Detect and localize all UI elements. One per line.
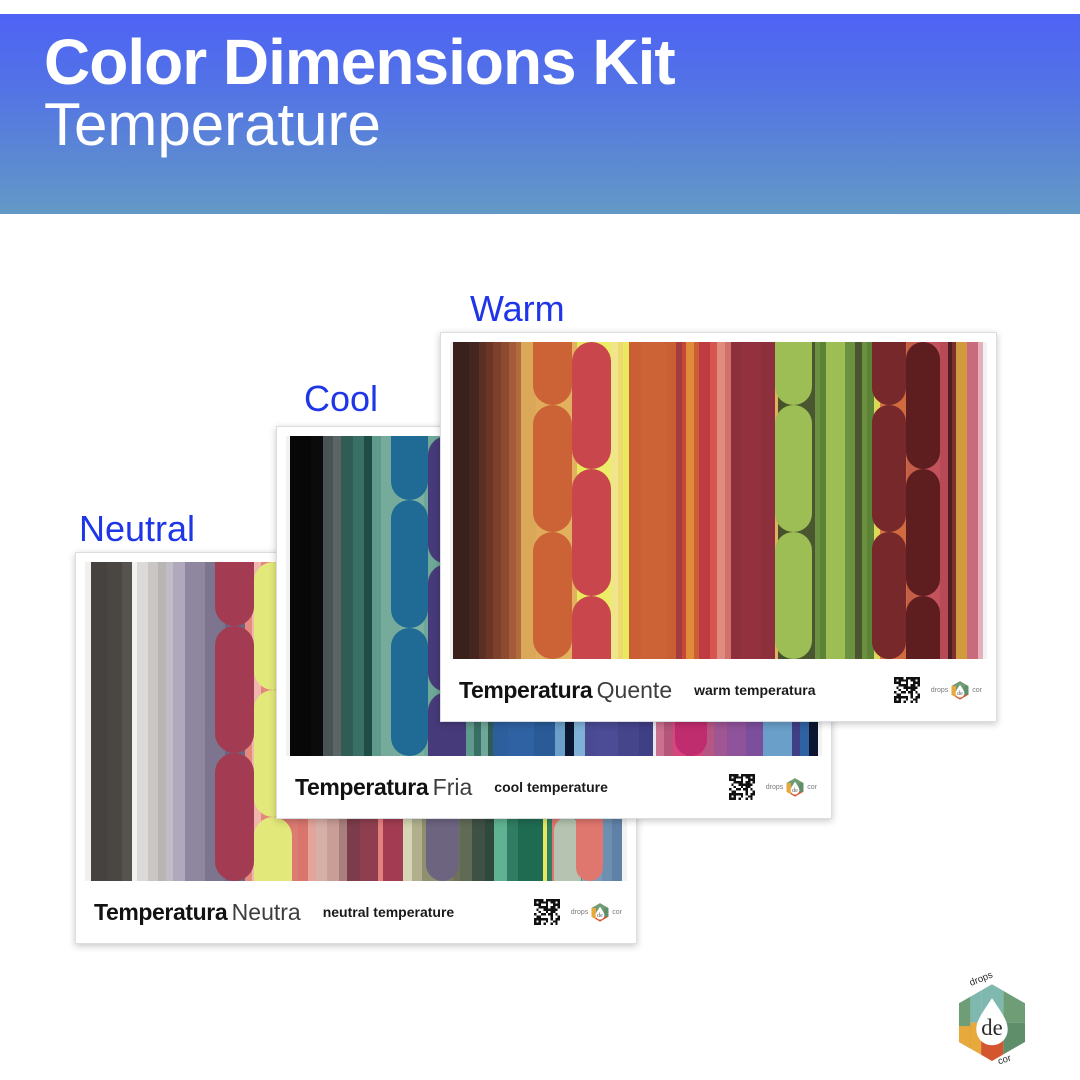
scallop-shape	[391, 628, 429, 692]
logo-bottom-text: cor	[612, 909, 622, 916]
card-label-warm: Warm	[470, 288, 565, 330]
scallop-shape	[533, 469, 572, 532]
drops-de-cor-logo[interactable]: de drops cor	[948, 972, 1036, 1068]
svg-text:de: de	[957, 691, 963, 697]
scallop-shape	[906, 532, 940, 595]
scallop-shape	[572, 405, 611, 468]
scallop-shape	[533, 532, 572, 595]
caption-subtitle: cool temperature	[494, 779, 608, 795]
scallop-column	[906, 342, 940, 659]
scallop-set	[450, 342, 987, 659]
scallop-shape	[906, 405, 940, 468]
page-subtitle: Temperature	[44, 93, 1080, 158]
qr-code-icon[interactable]	[534, 899, 560, 925]
drops-de-cor-logo: drops de cor	[571, 902, 622, 922]
logo-center-text: de	[981, 1015, 1002, 1040]
logo-top-text: drops	[571, 909, 589, 916]
page-header: Color Dimensions Kit Temperature	[0, 14, 1080, 214]
drops-de-cor-logo: drops de cor	[931, 680, 982, 700]
caption-subtitle: neutral temperature	[323, 904, 454, 920]
scallop-shape	[906, 469, 940, 532]
scallop-shape	[775, 596, 813, 659]
scallop-shape	[391, 436, 429, 500]
scallop-shape	[775, 342, 813, 405]
palette-card-warm[interactable]: Temperatura Quente warm temperatura drop…	[440, 332, 997, 722]
scallop-shape	[572, 596, 611, 659]
scallop-shape	[906, 342, 940, 405]
scallop-shape	[872, 342, 906, 405]
caption-subtitle: warm temperatura	[694, 682, 815, 698]
card-caption-neutral: Temperatura Neutra neutral temperature d…	[76, 881, 636, 943]
scallop-shape	[215, 753, 254, 817]
scallop-shape	[533, 596, 572, 659]
caption-meta: drops de cor	[534, 899, 622, 925]
caption-title-bold: Temperatura	[94, 899, 227, 925]
caption-meta: drops de cor	[729, 774, 817, 800]
caption-title-light: Quente	[597, 677, 672, 703]
svg-text:de: de	[792, 788, 798, 794]
scallop-shape	[426, 817, 459, 881]
logo-hexagon: de	[785, 777, 805, 797]
scallop-shape	[576, 817, 603, 881]
scallop-shape	[572, 532, 611, 595]
logo-svg: de drops cor	[948, 972, 1036, 1068]
scallop-shape	[572, 342, 611, 405]
scallop-shape	[775, 532, 813, 595]
scallop-shape	[775, 469, 813, 532]
logo-top-text: drops	[931, 687, 949, 694]
caption-title: Temperatura Neutra	[94, 899, 301, 926]
scallop-column	[872, 342, 906, 659]
scallop-shape	[775, 405, 813, 468]
scallop-column	[533, 342, 572, 659]
qr-code-icon[interactable]	[729, 774, 755, 800]
scallop-column	[775, 342, 813, 659]
qr-code-icon[interactable]	[894, 677, 920, 703]
drops-de-cor-logo: drops de cor	[766, 777, 817, 797]
scallop-shape	[215, 817, 254, 881]
page-title: Color Dimensions Kit	[44, 28, 1080, 97]
scallop-shape	[533, 405, 572, 468]
scallop-column	[215, 562, 254, 881]
scallop-shape	[254, 817, 292, 881]
scallop-column	[391, 436, 429, 756]
logo-top-text: drops	[766, 784, 784, 791]
scallop-column	[572, 342, 611, 659]
card-label-cool: Cool	[304, 378, 378, 420]
caption-meta: drops de cor	[894, 677, 982, 703]
card-caption-warm: Temperatura Quente warm temperatura drop…	[441, 659, 996, 721]
scallop-shape	[391, 500, 429, 564]
caption-title: Temperatura Fria	[295, 774, 472, 801]
scallop-shape	[572, 469, 611, 532]
caption-title-bold: Temperatura	[459, 677, 592, 703]
scallop-shape	[533, 342, 572, 405]
caption-title-light: Fria	[433, 774, 473, 800]
logo-hexagon: de	[590, 902, 610, 922]
scallop-shape	[872, 405, 906, 468]
card-label-neutral: Neutral	[79, 508, 195, 550]
logo-bottom-text: cor	[972, 687, 982, 694]
scallop-shape	[872, 469, 906, 532]
caption-title-bold: Temperatura	[295, 774, 428, 800]
scallop-shape	[391, 692, 429, 756]
logo-hexagon: de drops cor	[948, 972, 1036, 1068]
caption-title-light: Neutra	[232, 899, 301, 925]
svg-text:de: de	[597, 913, 603, 919]
scallop-shape	[215, 626, 254, 690]
caption-title: Temperatura Quente	[459, 677, 672, 704]
scallop-shape	[215, 562, 254, 626]
logo-bottom-text: cor	[807, 784, 817, 791]
logo-hexagon: de	[950, 680, 970, 700]
scallop-shape	[391, 564, 429, 628]
card-caption-cool: Temperatura Fria cool temperature drops …	[277, 756, 831, 818]
scallop-shape	[872, 596, 906, 659]
scallop-shape	[906, 596, 940, 659]
scallop-shape	[872, 532, 906, 595]
scallop-shape	[215, 690, 254, 754]
stripe-area-warm	[450, 342, 987, 659]
